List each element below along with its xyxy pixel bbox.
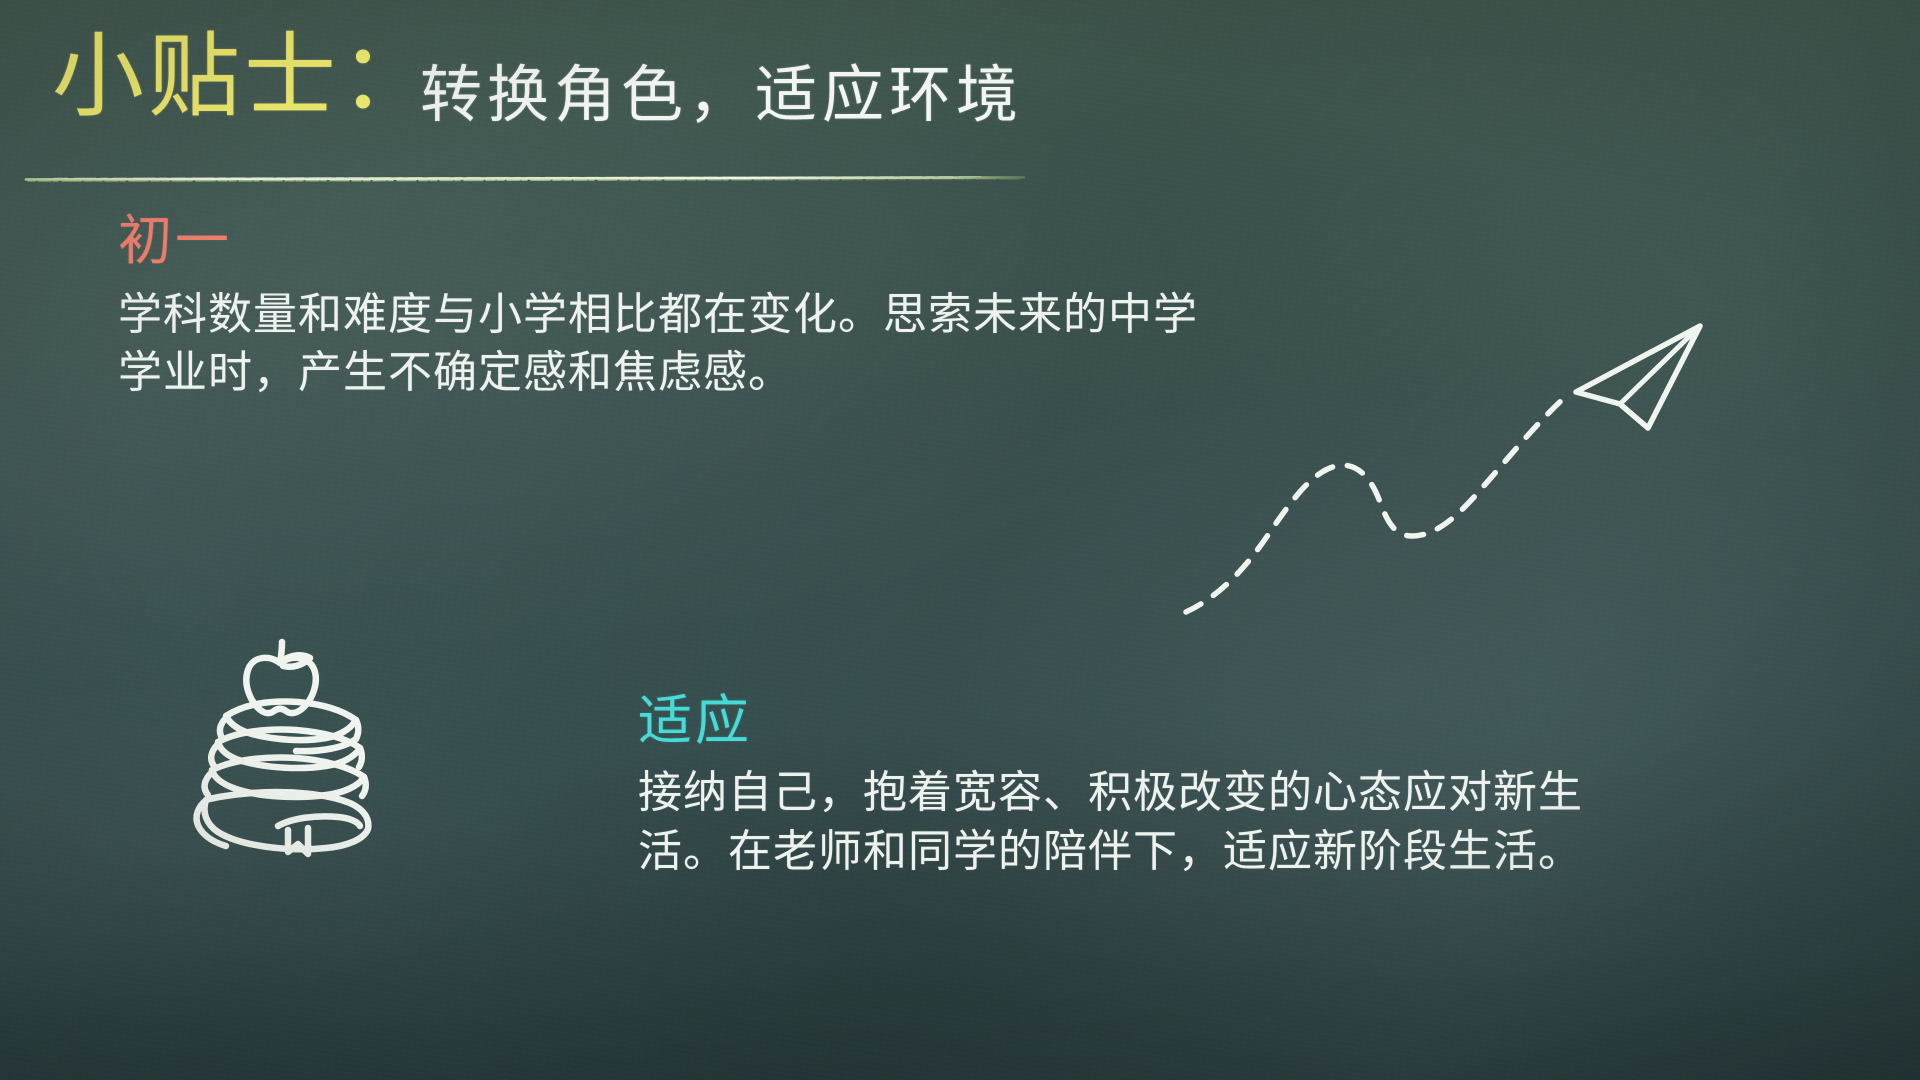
section-shiying-body: 接纳自己，抱着宽容、积极改变的心态应对新生 活。在老师和同学的陪伴下，适应新阶段… bbox=[638, 764, 1878, 882]
section-chuyi: 初一 学科数量和难度与小学相比都在变化。思索未来的中学 学业时，产生不确定感和焦… bbox=[118, 210, 1298, 402]
section-chuyi-body-line-1: 学科数量和难度与小学相比都在变化。思索未来的中学 bbox=[118, 286, 1298, 344]
chalk-divider-line bbox=[24, 176, 1024, 183]
section-shiying: 适应 接纳自己，抱着宽容、积极改变的心态应对新生 活。在老师和同学的陪伴下，适应… bbox=[638, 690, 1878, 882]
section-shiying-body-line-1: 接纳自己，抱着宽容、积极改变的心态应对新生 bbox=[638, 764, 1878, 823]
section-chuyi-body: 学科数量和难度与小学相比都在变化。思索未来的中学 学业时，产生不确定感和焦虑感。 bbox=[118, 286, 1298, 402]
page-title: 小贴士： bbox=[52, 28, 436, 127]
books-apple-chalk-icon bbox=[170, 630, 380, 860]
section-chuyi-heading: 初一 bbox=[118, 210, 1298, 272]
section-shiying-body-line-2: 活。在老师和同学的陪伴下，适应新阶段生活。 bbox=[638, 823, 1878, 882]
section-shiying-heading: 适应 bbox=[638, 690, 1878, 752]
slide-header: 小贴士： 转换角色，适应环境 bbox=[0, 0, 1920, 200]
section-chuyi-body-line-2: 学业时，产生不确定感和焦虑感。 bbox=[118, 344, 1298, 402]
slide-canvas: 小贴士： 转换角色，适应环境 bbox=[0, 0, 1920, 1080]
paper-plane-dashed-path-icon bbox=[1180, 320, 1840, 640]
page-subtitle: 转换角色，适应环境 bbox=[420, 62, 1023, 130]
